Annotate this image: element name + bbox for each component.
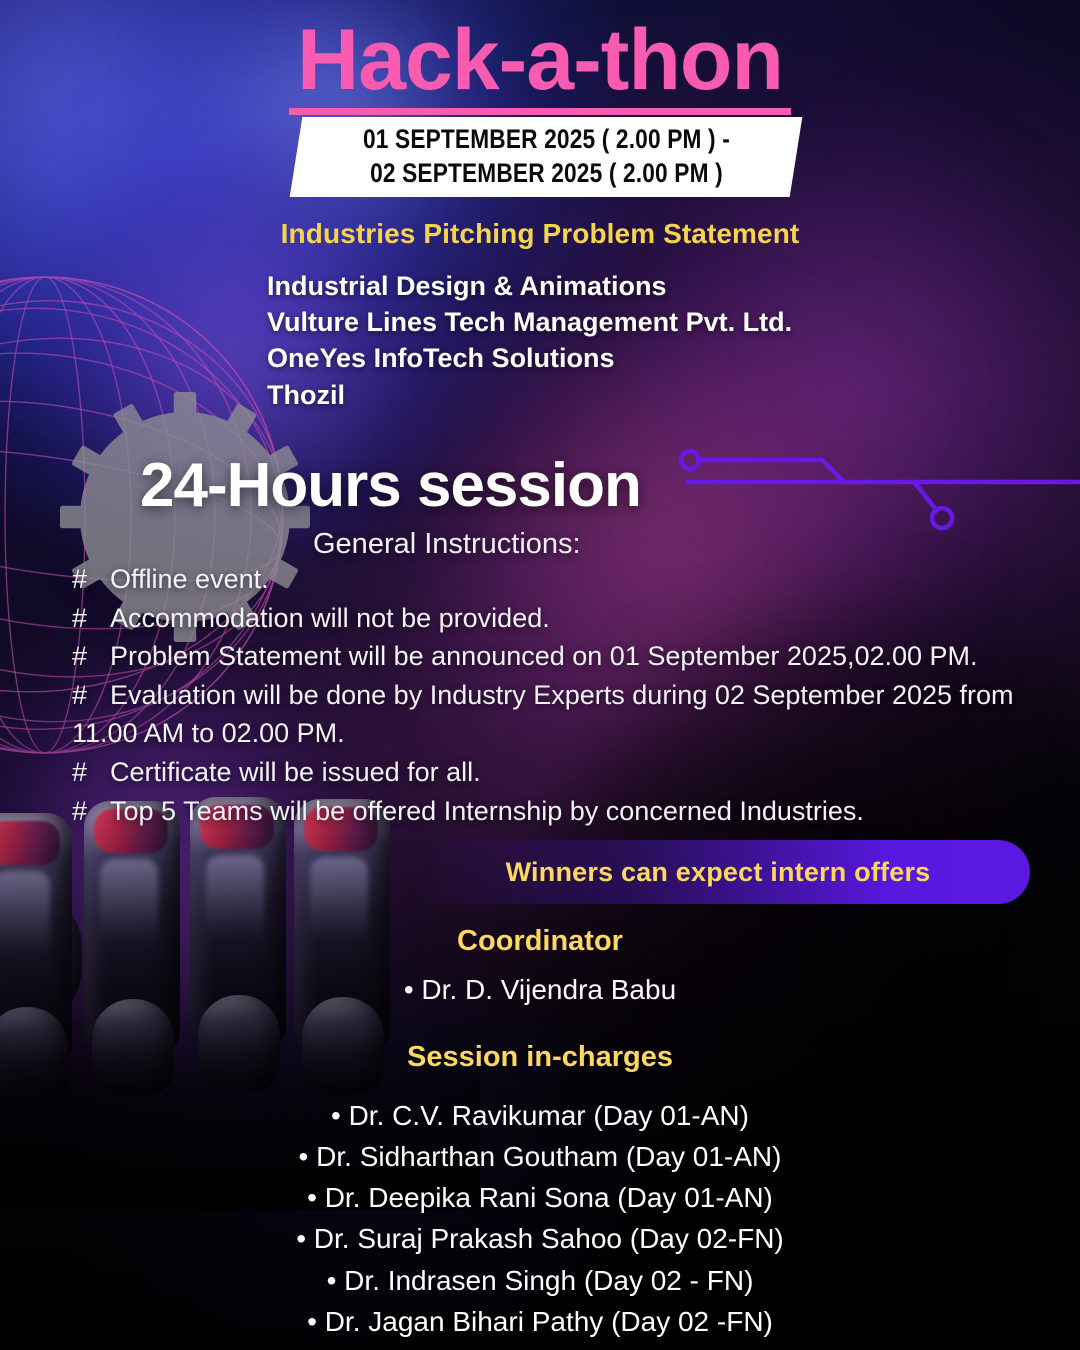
session-incharges-list: • Dr. C.V. Ravikumar (Day 01-AN) • Dr. S… <box>0 1095 1080 1342</box>
list-item: • Dr. Jagan Bihari Pathy (Day 02 -FN) <box>0 1301 1080 1342</box>
poster-canvas: Hack-a-thon 01 SEPTEMBER 2025 ( 2.00 PM … <box>0 0 1080 1350</box>
list-item: • Dr. Deepika Rani Sona (Day 01-AN) <box>0 1177 1080 1218</box>
coordinator-name: • Dr. D. Vijendra Babu <box>0 974 1080 1006</box>
list-item: • Dr. C.V. Ravikumar (Day 01-AN) <box>0 1095 1080 1136</box>
list-item: • Dr. Indrasen Singh (Day 02 - FN) <box>0 1260 1080 1301</box>
hash-bullet-icon: # <box>72 599 110 638</box>
list-item: Industrial Design & Animations <box>267 268 792 304</box>
list-item: OneYes InfoTech Solutions <box>267 340 792 376</box>
list-item: Vulture Lines Tech Management Pvt. Ltd. <box>267 304 792 340</box>
date-banner-text: 01 SEPTEMBER 2025 ( 2.00 PM ) - 02 SEPTE… <box>328 123 765 191</box>
list-item: #Problem Statement will be announced on … <box>72 637 1072 676</box>
list-item: #Top 5 Teams will be offered Internship … <box>72 792 1072 831</box>
title-wrapper: Hack-a-thon <box>0 20 1080 115</box>
list-item: #Accommodation will not be provided. <box>72 599 1072 638</box>
winners-banner: Winners can expect intern offers <box>406 840 1030 904</box>
list-item: Thozil <box>267 377 792 413</box>
session-duration-label: 24-Hours session <box>140 450 641 521</box>
list-item: #Offline event. <box>72 560 1072 599</box>
winners-banner-text: Winners can expect intern offers <box>506 857 931 888</box>
hash-bullet-icon: # <box>72 792 110 831</box>
list-item: #Certificate will be issued for all. <box>72 753 1072 792</box>
industries-list: Industrial Design & Animations Vulture L… <box>267 268 792 413</box>
list-item-text: Offline event. <box>110 564 269 594</box>
hash-bullet-icon: # <box>72 560 110 599</box>
general-instructions-heading: General Instructions: <box>313 528 581 561</box>
list-item-text: Certificate will be issued for all. <box>110 757 481 787</box>
coordinator-heading: Coordinator <box>0 925 1080 958</box>
pitching-heading: Industries Pitching Problem Statement <box>0 218 1080 250</box>
instructions-list: #Offline event. #Accommodation will not … <box>72 560 1072 830</box>
hash-bullet-icon: # <box>72 753 110 792</box>
list-item-text: Top 5 Teams will be offered Internship b… <box>110 796 864 826</box>
session-incharges-heading: Session in-charges <box>0 1041 1080 1074</box>
hash-bullet-icon: # <box>72 637 110 676</box>
list-item: #Evaluation will be done by Industry Exp… <box>72 676 1072 753</box>
list-item-text: Accommodation will not be provided. <box>110 603 550 633</box>
date-line-2: 02 SEPTEMBER 2025 ( 2.00 PM ) <box>363 157 730 191</box>
list-item: • Dr. Sidharthan Goutham (Day 01-AN) <box>0 1136 1080 1177</box>
date-banner: 01 SEPTEMBER 2025 ( 2.00 PM ) - 02 SEPTE… <box>290 117 803 197</box>
poster-content: Hack-a-thon 01 SEPTEMBER 2025 ( 2.00 PM … <box>0 0 1080 1350</box>
date-line-1: 01 SEPTEMBER 2025 ( 2.00 PM ) - <box>363 123 730 157</box>
list-item: • Dr. Suraj Prakash Sahoo (Day 02-FN) <box>0 1218 1080 1259</box>
list-item-text: Problem Statement will be announced on 0… <box>110 641 978 671</box>
list-item-text: Evaluation will be done by Industry Expe… <box>72 680 1014 749</box>
hash-bullet-icon: # <box>72 676 110 715</box>
page-title: Hack-a-thon <box>289 20 791 115</box>
